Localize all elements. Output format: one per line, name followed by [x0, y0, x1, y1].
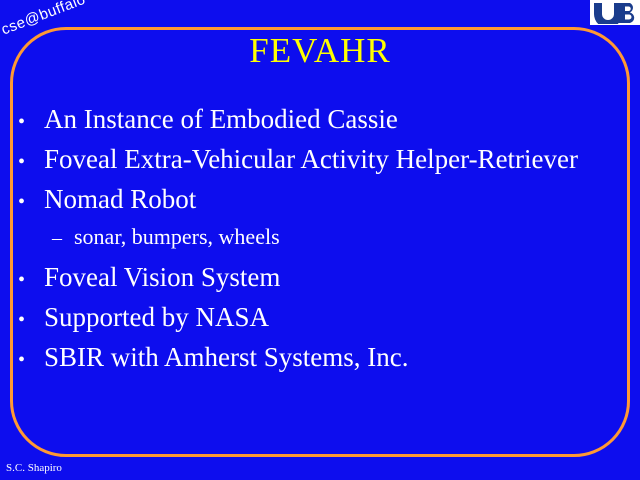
bullet-marker-icon: •	[18, 270, 44, 290]
bullet-marker-icon: •	[18, 152, 44, 172]
ub-logo-mark	[592, 2, 638, 24]
list-item: • Supported by NASA	[18, 302, 628, 342]
list-item-label: Foveal Vision System	[44, 262, 280, 293]
presentation-slide: cse@buffalo FEVAHR • An Instance of Embo…	[0, 0, 640, 480]
sub-list-item-label: sonar, bumpers, wheels	[74, 224, 280, 250]
list-item-label: Nomad Robot	[44, 184, 196, 215]
list-item: • An Instance of Embodied Cassie	[18, 104, 628, 144]
list-item: • Foveal Vision System	[18, 262, 628, 302]
list-item-label: SBIR with Amherst Systems, Inc.	[44, 342, 409, 373]
list-item: • Foveal Extra-Vehicular Activity Helper…	[18, 144, 628, 184]
bullet-marker-icon: •	[18, 112, 44, 132]
dash-marker-icon: –	[52, 228, 74, 248]
list-item-label: An Instance of Embodied Cassie	[44, 104, 398, 135]
list-item: • Nomad Robot	[18, 184, 628, 224]
list-item: • SBIR with Amherst Systems, Inc.	[18, 342, 628, 382]
bullet-marker-icon: •	[18, 192, 44, 212]
bullet-marker-icon: •	[18, 350, 44, 370]
ub-logo	[590, 0, 640, 25]
slide-footer-author: S.C. Shapiro	[6, 462, 62, 474]
bullet-marker-icon: •	[18, 310, 44, 330]
list-item-label: Supported by NASA	[44, 302, 269, 333]
bullet-list: • An Instance of Embodied Cassie • Fovea…	[18, 104, 628, 382]
page-title: FEVAHR	[0, 32, 640, 71]
sub-list-item: – sonar, bumpers, wheels	[18, 224, 628, 262]
list-item-label: Foveal Extra-Vehicular Activity Helper-R…	[44, 144, 578, 175]
